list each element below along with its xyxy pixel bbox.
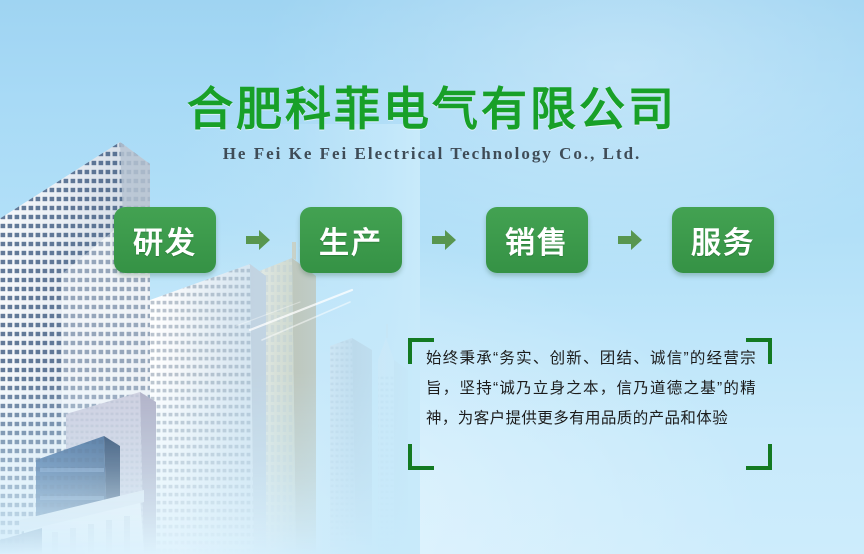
step-label: 研发 [133,218,197,262]
step-label: 生产 [319,218,383,262]
arrow-right-icon [243,225,273,255]
arrow-right-icon [429,225,459,255]
step-chip-production[interactable]: 生产 [300,207,402,273]
step-label: 服务 [691,218,755,262]
step-chip-service[interactable]: 服务 [672,207,774,273]
step-label: 销售 [505,218,569,262]
bracket-bottom-right [746,444,772,470]
arrow-right-icon [615,225,645,255]
company-motto-text: 始终秉承“务实、创新、团结、诚信”的经营宗旨，坚持“诚乃立身之本，信乃道德之基”… [426,344,756,434]
city-skyline-photo [0,124,420,554]
title-block: 合肥科菲电气有限公司 He Fei Ke Fei Electrical Tech… [0,84,864,164]
step-chip-rd[interactable]: 研发 [114,207,216,273]
page-subtitle: He Fei Ke Fei Electrical Technology Co.,… [0,144,864,164]
skyline-fade [0,124,420,554]
company-motto-box: 始终秉承“务实、创新、团结、诚信”的经营宗旨，坚持“诚乃立身之本，信乃道德之基”… [408,338,772,470]
step-chip-sales[interactable]: 销售 [486,207,588,273]
page-title: 合肥科菲电气有限公司 [0,84,864,135]
process-steps: 研发 生产 销售 服务 [114,206,774,274]
bracket-bottom-left [408,444,434,470]
company-banner: 合肥科菲电气有限公司 He Fei Ke Fei Electrical Tech… [0,0,864,554]
